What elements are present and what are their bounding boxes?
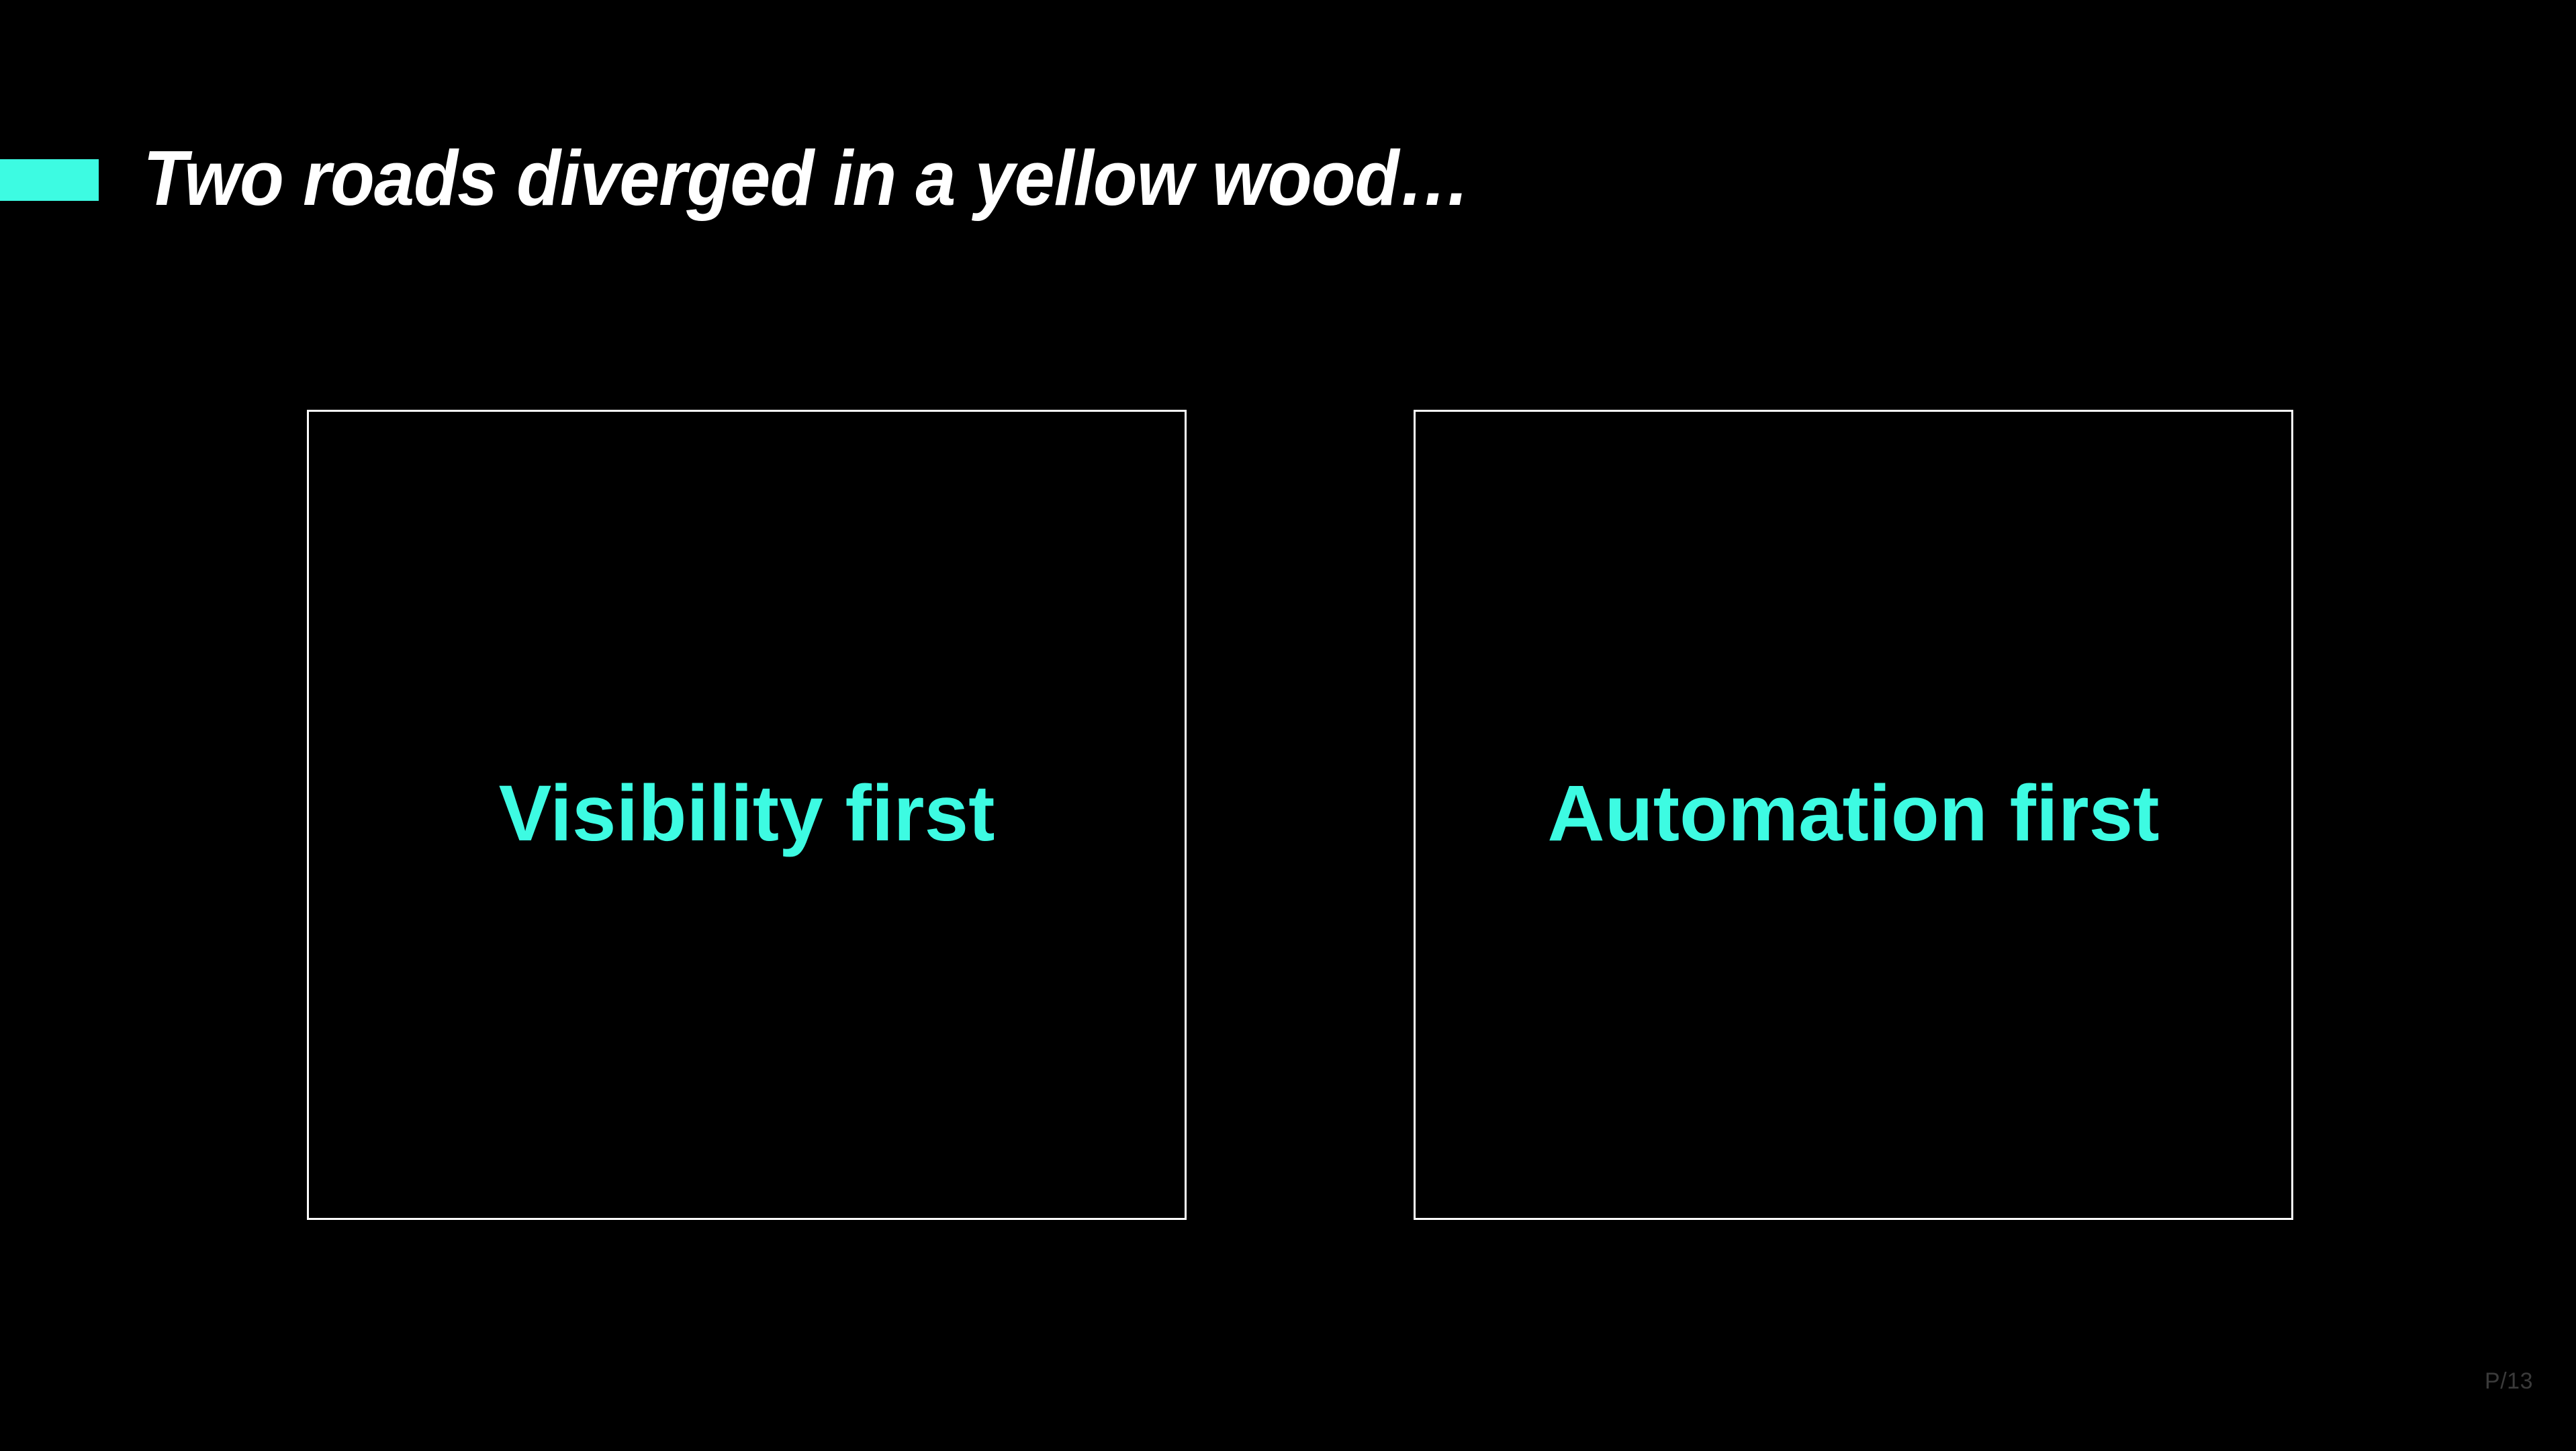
slide-header: Two roads diverged in a yellow wood… [0, 128, 2576, 228]
option-card-label: Visibility first [499, 774, 995, 853]
page-title: Two roads diverged in a yellow wood… [143, 128, 2266, 228]
option-card-label: Automation first [1547, 774, 2159, 853]
option-card-visibility-first[interactable]: Visibility first [307, 410, 1187, 1220]
accent-bar-icon [0, 159, 99, 201]
slide-canvas: Two roads diverged in a yellow wood… Vis… [0, 0, 2576, 1451]
option-card-automation-first[interactable]: Automation first [1414, 410, 2293, 1220]
page-number: P/13 [2485, 1368, 2533, 1395]
